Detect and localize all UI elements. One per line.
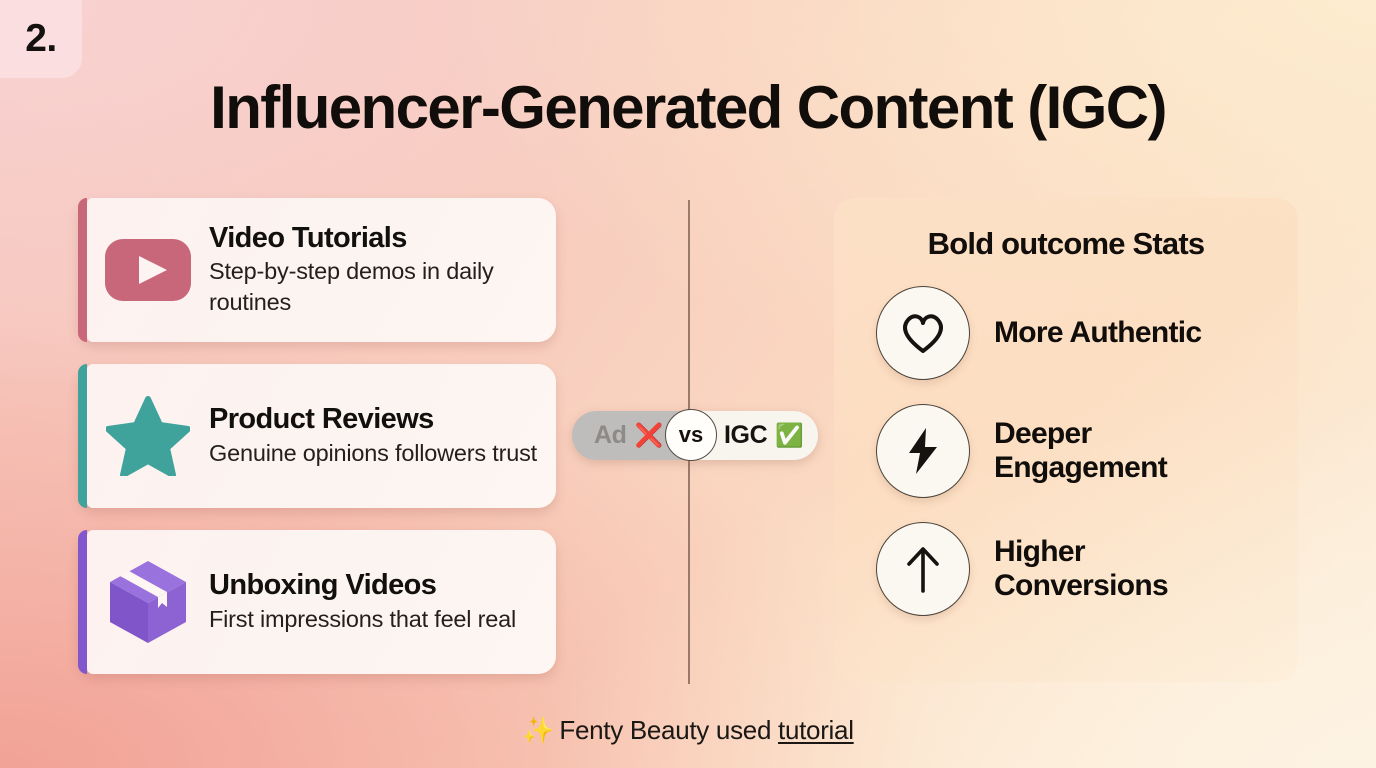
footer-note: ✨Fenty Beauty used tutorial	[0, 715, 1376, 746]
igc-label: IGC	[724, 421, 767, 450]
stat-row-more-authentic[interactable]: More Authentic	[876, 286, 1298, 380]
card-description: First impressions that feel real	[209, 604, 542, 635]
stat-row-higher-conversions[interactable]: Higher Conversions	[876, 522, 1298, 616]
vs-badge: vs	[665, 409, 717, 461]
feature-card-list: Video Tutorials Step-by-step demos in da…	[78, 198, 556, 674]
step-number-badge: 2.	[0, 0, 82, 78]
ad-vs-igc-comparison-pill[interactable]: Ad ❌ IGC ✅ vs	[572, 411, 818, 460]
card-title: Unboxing Videos	[209, 569, 542, 601]
footer-text: Fenty Beauty used	[559, 715, 778, 745]
feature-card-video-tutorials[interactable]: Video Tutorials Step-by-step demos in da…	[78, 198, 556, 342]
stat-row-deeper-engagement[interactable]: Deeper Engagement	[876, 404, 1298, 498]
card-title: Product Reviews	[209, 403, 542, 435]
stat-label: More Authentic	[994, 316, 1201, 351]
cross-mark-icon: ❌	[635, 424, 664, 447]
arrow-up-icon	[876, 522, 970, 616]
card-description: Step-by-step demos in daily routines	[209, 256, 542, 319]
youtube-play-icon	[87, 239, 209, 301]
star-icon	[87, 396, 209, 476]
card-accent-bar	[78, 198, 87, 342]
check-mark-icon: ✅	[775, 424, 804, 447]
stats-panel-title: Bold outcome Stats	[834, 226, 1298, 262]
card-accent-bar	[78, 364, 87, 508]
footer-link[interactable]: tutorial	[778, 715, 854, 745]
package-box-icon	[87, 558, 209, 646]
card-description: Genuine opinions followers trust	[209, 438, 542, 469]
card-accent-bar	[78, 530, 87, 674]
feature-card-unboxing-videos[interactable]: Unboxing Videos First impressions that f…	[78, 530, 556, 674]
step-number: 2.	[25, 17, 57, 61]
stat-label: Deeper Engagement	[994, 417, 1254, 486]
ad-label: Ad	[594, 421, 627, 450]
stats-list: More Authentic Deeper Engagement Higher …	[834, 286, 1298, 616]
card-title: Video Tutorials	[209, 222, 542, 254]
feature-card-product-reviews[interactable]: Product Reviews Genuine opinions followe…	[78, 364, 556, 508]
heart-icon	[876, 286, 970, 380]
page-title: Influencer-Generated Content (IGC)	[0, 76, 1376, 139]
lightning-bolt-icon	[876, 404, 970, 498]
sparkles-icon: ✨	[522, 715, 554, 745]
stat-label: Higher Conversions	[994, 535, 1254, 604]
outcome-stats-panel: Bold outcome Stats More Authentic Deeper…	[834, 198, 1298, 682]
